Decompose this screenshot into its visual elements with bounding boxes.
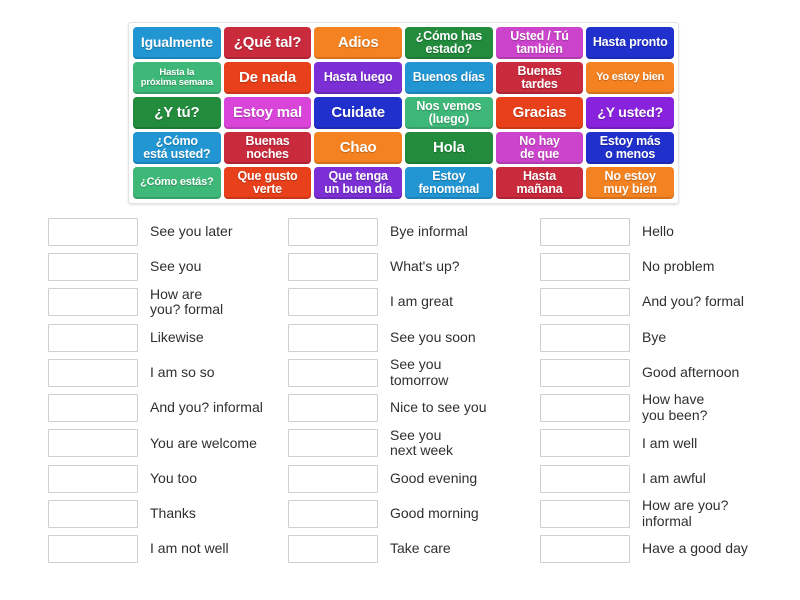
word-tile[interactable]: Adios [314,27,402,59]
answer-row: I am well [540,426,798,461]
answer-label: You too [150,471,197,487]
answer-label: And you? formal [642,294,744,310]
answer-drop-box[interactable] [540,535,630,563]
answer-label: I am well [642,436,697,452]
answer-label: How have you been? [642,392,707,423]
answer-drop-box[interactable] [540,253,630,281]
answer-drop-box[interactable] [540,394,630,422]
answer-label: Have a good day [642,541,748,557]
answer-label: Take care [390,541,451,557]
answer-row: I am great [288,285,532,320]
answer-label: Good evening [390,471,477,487]
answer-drop-box[interactable] [540,359,630,387]
answer-label: How are you? informal [642,498,728,529]
word-tile[interactable]: ¿Y usted? [586,97,674,129]
word-tile[interactable]: Hasta la próxima semana [133,62,221,94]
activity-stage: Igualmente¿Qué tal?Adios¿Cómo has estado… [0,0,800,600]
answer-label: I am awful [642,471,706,487]
answer-label: I am so so [150,365,215,381]
answer-row: How have you been? [540,390,798,425]
answer-row: See you soon [288,320,532,355]
answer-drop-box[interactable] [288,429,378,457]
answer-label: Nice to see you [390,400,487,416]
word-tile[interactable]: ¿Cómo estás? [133,167,221,199]
answer-drop-box[interactable] [48,218,138,246]
answer-row: No problem [540,249,798,284]
word-tile[interactable]: Nos vemos (luego) [405,97,493,129]
answer-drop-box[interactable] [288,324,378,352]
word-tile[interactable]: Gracias [496,97,584,129]
answer-label: I am great [390,294,453,310]
word-tile[interactable]: Yo estoy bien [586,62,674,94]
answer-drop-box[interactable] [288,500,378,528]
answer-row: Good evening [288,461,532,496]
answer-label: No problem [642,259,714,275]
answer-label: Bye [642,330,666,346]
answer-label: Thanks [150,506,196,522]
word-tile[interactable]: Cuidate [314,97,402,129]
answer-row: See you tomorrow [288,355,532,390]
answer-drop-box[interactable] [48,288,138,316]
answer-row: Nice to see you [288,390,532,425]
answer-label: See you tomorrow [390,357,448,388]
answer-label: See you [150,259,201,275]
answer-drop-box[interactable] [540,429,630,457]
answer-row: You too [48,461,266,496]
answer-column-3: HelloNo problemAnd you? formalByeGood af… [532,214,798,574]
answer-column-1: See you laterSee youHow are you? formalL… [0,214,266,574]
answer-label: Good morning [390,506,479,522]
answer-drop-box[interactable] [288,218,378,246]
answer-drop-box[interactable] [540,324,630,352]
answer-row: Likewise [48,320,266,355]
answer-row: I am not well [48,532,266,567]
answer-drop-box[interactable] [48,500,138,528]
answer-drop-box[interactable] [48,535,138,563]
word-tile[interactable]: Buenas noches [224,132,312,164]
answer-row: Good morning [288,496,532,531]
answer-drop-box[interactable] [48,429,138,457]
answer-label: Bye informal [390,224,468,240]
word-tile[interactable]: Buenas tardes [496,62,584,94]
answer-drop-box[interactable] [48,465,138,493]
answer-row: Good afternoon [540,355,798,390]
answer-label: How are you? formal [150,287,223,318]
answer-label: And you? informal [150,400,263,416]
answer-drop-box[interactable] [288,465,378,493]
answer-drop-box[interactable] [288,288,378,316]
word-tile[interactable]: Que tenga un buen día [314,167,402,199]
answer-row: See you later [48,214,266,249]
answer-column-2: Bye informalWhat's up?I am greatSee you … [266,214,532,574]
answer-drop-box[interactable] [288,359,378,387]
word-tile[interactable]: Hasta pronto [586,27,674,59]
answer-row: Bye informal [288,214,532,249]
answer-label: Hello [642,224,674,240]
answer-label: See you soon [390,330,476,346]
answer-drop-box[interactable] [288,253,378,281]
word-tile[interactable]: ¿Y tú? [133,97,221,129]
answer-row: See you [48,249,266,284]
answer-row: Bye [540,320,798,355]
answer-label: Likewise [150,330,204,346]
word-tile[interactable]: No hay de que [496,132,584,164]
word-tile[interactable]: Igualmente [133,27,221,59]
word-tile-panel: Igualmente¿Qué tal?Adios¿Cómo has estado… [128,22,679,204]
answer-row: How are you? formal [48,285,266,320]
word-tile[interactable]: Hasta luego [314,62,402,94]
answer-label: What's up? [390,259,460,275]
answer-drop-box[interactable] [48,359,138,387]
answer-row: Hello [540,214,798,249]
answer-label: Good afternoon [642,365,739,381]
word-tile[interactable]: Buenos días [405,62,493,94]
answer-label: See you next week [390,428,453,459]
answer-row: I am so so [48,355,266,390]
answer-drop-box[interactable] [540,218,630,246]
word-tile[interactable]: Hasta mañana [496,167,584,199]
answer-drop-box[interactable] [540,500,630,528]
answer-drop-box[interactable] [48,253,138,281]
answer-row: How are you? informal [540,496,798,531]
word-tile-grid: Igualmente¿Qué tal?Adios¿Cómo has estado… [133,27,674,199]
word-tile[interactable]: De nada [224,62,312,94]
answer-row: I am awful [540,461,798,496]
word-tile[interactable]: ¿Qué tal? [224,27,312,59]
answer-drop-box[interactable] [288,394,378,422]
word-tile[interactable]: Estoy mal [224,97,312,129]
word-tile[interactable]: Usted / Tú también [496,27,584,59]
word-tile[interactable]: Chao [314,132,402,164]
word-tile[interactable]: Que gusto verte [224,167,312,199]
answer-drop-box[interactable] [540,465,630,493]
answer-row: Have a good day [540,532,798,567]
answer-row: And you? informal [48,390,266,425]
answer-row: See you next week [288,426,532,461]
answer-row: You are welcome [48,426,266,461]
answer-drop-box[interactable] [540,288,630,316]
answer-drop-box[interactable] [48,394,138,422]
word-tile[interactable]: ¿Cómo has estado? [405,27,493,59]
word-tile[interactable]: Hola [405,132,493,164]
answer-row: And you? formal [540,285,798,320]
word-tile[interactable]: Estoy fenomenal [405,167,493,199]
word-tile[interactable]: Estoy más o menos [586,132,674,164]
answer-row: What's up? [288,249,532,284]
answer-drop-box[interactable] [288,535,378,563]
answer-label: I am not well [150,541,229,557]
word-tile[interactable]: No estoy muy bien [586,167,674,199]
answer-row: Take care [288,532,532,567]
word-tile[interactable]: ¿Cómo está usted? [133,132,221,164]
answer-row: Thanks [48,496,266,531]
answer-columns: See you laterSee youHow are you? formalL… [0,214,800,574]
answer-label: You are welcome [150,436,257,452]
answer-drop-box[interactable] [48,324,138,352]
answer-label: See you later [150,224,233,240]
